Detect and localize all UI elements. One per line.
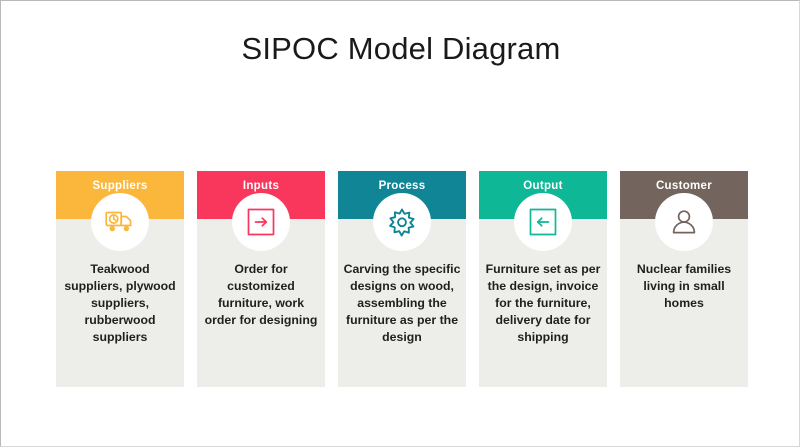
card-body-process: Carving the specific designs on wood, as… — [343, 261, 461, 346]
page-title: SIPOC Model Diagram — [1, 31, 800, 67]
arrow-left-square-icon — [529, 208, 557, 236]
slide-canvas: SIPOC Model Diagram Suppliers — [0, 0, 800, 447]
sipoc-card-customer[interactable]: Customer Nuclear families living in smal… — [620, 171, 748, 387]
gear-icon — [387, 207, 417, 237]
arrow-right-square-icon — [247, 208, 275, 236]
icon-badge-customer — [655, 193, 713, 251]
card-header-label: Suppliers — [92, 180, 147, 192]
sipoc-columns: Suppliers Teakwood suppliers, plywood su… — [56, 171, 748, 387]
card-header-label: Inputs — [243, 180, 279, 192]
person-icon — [670, 208, 698, 236]
sipoc-card-inputs[interactable]: Inputs Order for customized furniture, w… — [197, 171, 325, 387]
icon-badge-output — [514, 193, 572, 251]
card-header-label: Output — [523, 180, 562, 192]
delivery-truck-clock-icon — [105, 209, 135, 235]
card-header-label: Process — [379, 180, 426, 192]
sipoc-card-suppliers[interactable]: Suppliers Teakwood suppliers, plywood su… — [56, 171, 184, 387]
card-body-suppliers: Teakwood suppliers, plywood suppliers, r… — [61, 261, 179, 346]
sipoc-card-output[interactable]: Output Furniture set as per the design, … — [479, 171, 607, 387]
card-body-output: Furniture set as per the design, invoice… — [484, 261, 602, 346]
card-body-inputs: Order for customized furniture, work ord… — [202, 261, 320, 329]
icon-badge-process — [373, 193, 431, 251]
icon-badge-suppliers — [91, 193, 149, 251]
icon-badge-inputs — [232, 193, 290, 251]
card-header-label: Customer — [656, 180, 712, 192]
card-body-customer: Nuclear families living in small homes — [625, 261, 743, 312]
sipoc-card-process[interactable]: Process Carving the specific designs on … — [338, 171, 466, 387]
